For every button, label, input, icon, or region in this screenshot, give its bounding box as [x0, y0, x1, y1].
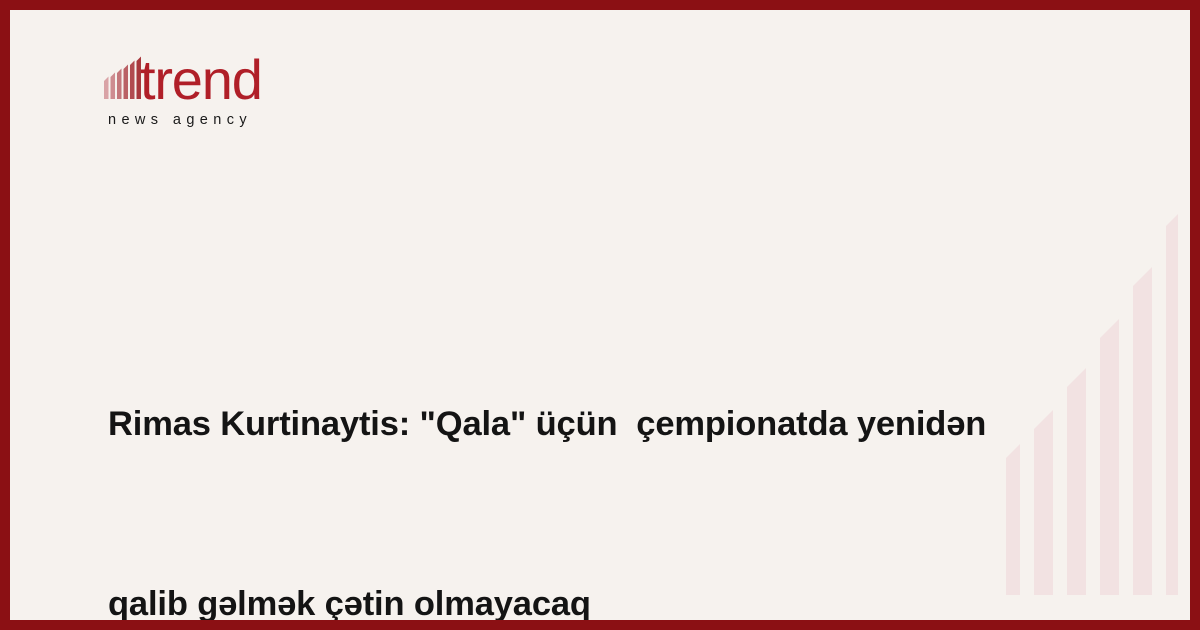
brand-tagline: news agency: [108, 112, 252, 128]
share-card: trend news agency Rimas Kurtinaytis: "Qa…: [0, 0, 1200, 630]
headline: Rimas Kurtinaytis: "Qala" üçün çempionat…: [108, 274, 1068, 630]
headline-line-2: qalib gəlmək çətin olmayacaq: [108, 574, 1068, 630]
headline-line-1: Rimas Kurtinaytis: "Qala" üçün çempionat…: [108, 394, 1068, 454]
brand-logo[interactable]: trend news agency: [102, 50, 372, 145]
ascending-bars-icon: [104, 57, 141, 100]
svg-text:trend: trend: [140, 50, 262, 111]
trend-wordmark: trend: [102, 50, 277, 112]
